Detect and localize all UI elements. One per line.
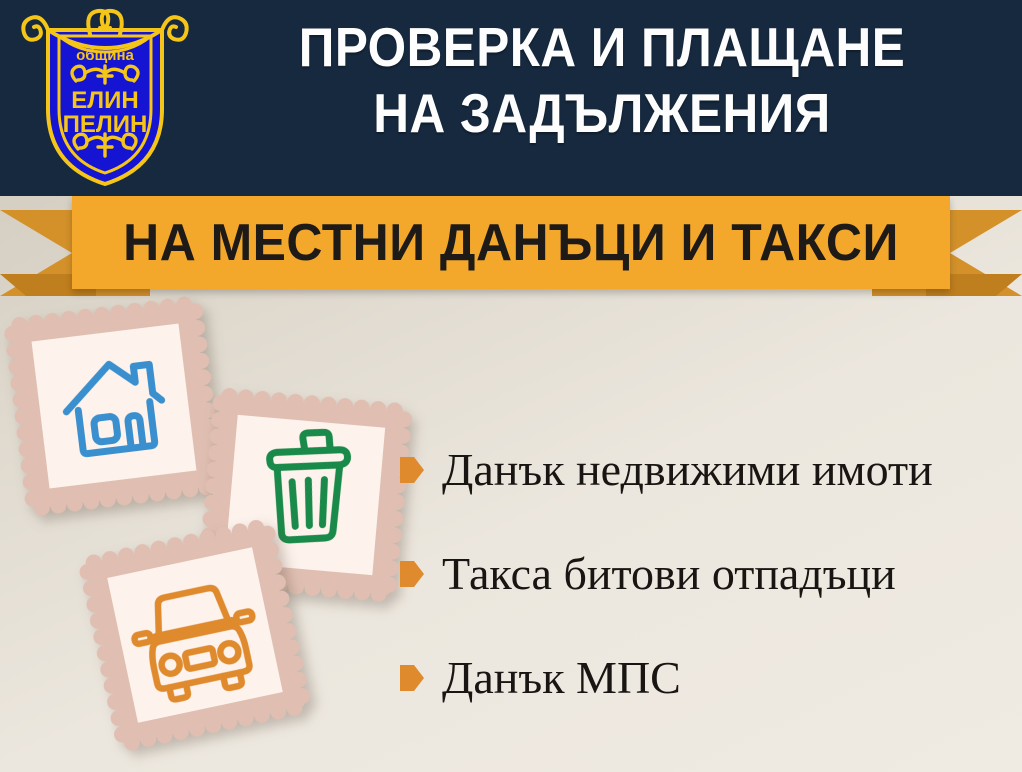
header-bar: община ЕЛИН ПЕЛИН ПРОВЕРКА И ПЛАЩАНЕ НА … xyxy=(0,0,1022,196)
list-item-label: Такса битови отпадъци xyxy=(442,551,896,597)
ribbon-banner: НА МЕСТНИ ДАНЪЦИ И ТАКСИ xyxy=(72,196,950,289)
page-title: ПРОВЕРКА И ПЛАЩАНЕ НА ЗАДЪЛЖЕНИЯ xyxy=(237,14,968,146)
page-title-line-1: ПРОВЕРКА И ПЛАЩАНЕ xyxy=(299,16,905,78)
stamp-card-vehicle xyxy=(76,516,313,753)
list-item[interactable]: Данък МПС xyxy=(400,626,1012,730)
coat-of-arms-logo: община ЕЛИН ПЕЛИН xyxy=(18,4,193,189)
arrow-bullet-icon xyxy=(400,561,424,587)
ribbon-label: НА МЕСТНИ ДАНЪЦИ И ТАКСИ xyxy=(123,213,899,273)
arrow-bullet-icon xyxy=(400,665,424,691)
subtitle-ribbon: НА МЕСТНИ ДАНЪЦИ И ТАКСИ xyxy=(0,196,1022,306)
list-item-label: Данък недвижими имоти xyxy=(442,447,933,493)
list-item-label: Данък МПС xyxy=(442,655,681,701)
stamp-card-group xyxy=(0,300,420,772)
stamp-card-property xyxy=(3,295,226,518)
tax-type-list: Данък недвижими имоти Такса битови отпад… xyxy=(400,418,1012,730)
list-item[interactable]: Данък недвижими имоти xyxy=(400,418,1012,522)
poster-canvas: община ЕЛИН ПЕЛИН ПРОВЕРКА И ПЛАЩАНЕ НА … xyxy=(0,0,1022,772)
crest-label-elin: ЕЛИН xyxy=(71,87,138,114)
crest-label-obshtina: община xyxy=(76,47,134,64)
crest-label-pelin: ПЕЛИН xyxy=(63,111,148,138)
list-item[interactable]: Такса битови отпадъци xyxy=(400,522,1012,626)
page-title-line-2: НА ЗАДЪЛЖЕНИЯ xyxy=(237,80,968,146)
arrow-bullet-icon xyxy=(400,457,424,483)
